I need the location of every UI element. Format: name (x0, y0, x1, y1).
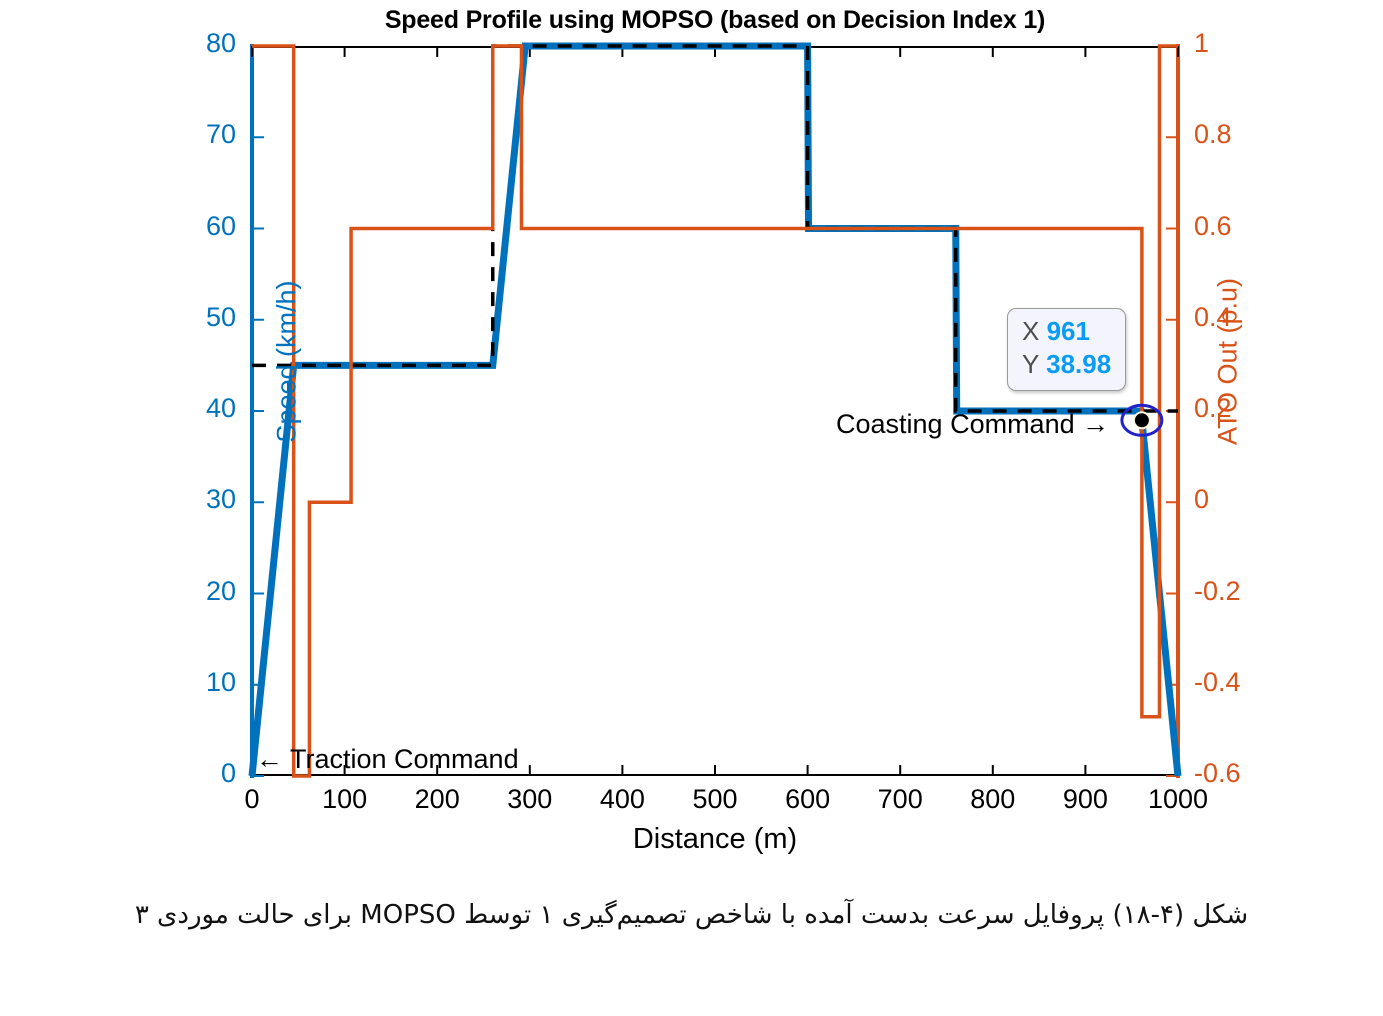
data-tip-x-value: 961 (1047, 316, 1090, 346)
figure-container: Speed Profile using MOPSO (based on Deci… (0, 0, 1383, 1016)
y-tick-label-right: 0.6 (1194, 211, 1284, 242)
y-tick-label-left: 10 (166, 667, 236, 698)
data-tip-x-key: X (1022, 316, 1039, 346)
data-tip-y-value: 38.98 (1046, 349, 1111, 379)
y-tick-label-left: 80 (166, 28, 236, 59)
coasting-command-annotation: Coasting Command → (836, 409, 1109, 440)
y-tick-label-left: 20 (166, 576, 236, 607)
data-tip-x-row: X 961 (1022, 315, 1111, 348)
y-tick-label-right: -0.2 (1194, 576, 1284, 607)
y-tick-label-left: 40 (166, 393, 236, 424)
y-tick-label-right: 0 (1194, 484, 1284, 515)
data-tip-y-key: Y (1022, 349, 1039, 379)
y-axis-label-left: Speed (km/h) (272, 232, 303, 492)
data-tip-box[interactable]: X 961 Y 38.98 (1007, 308, 1126, 391)
figure-caption: شکل (۴-۱۸) پروفایل سرعت بدست آمده با شاخ… (0, 900, 1383, 930)
y-axis-label-right: ATO Out (p.u) (1213, 232, 1244, 492)
y-tick-label-right: 1 (1194, 28, 1284, 59)
y-tick-label-right: -0.4 (1194, 667, 1284, 698)
y-tick-label-right: 0.8 (1194, 119, 1284, 150)
traction-command-annotation: ← Traction Command (256, 744, 519, 775)
y-tick-label-left: 60 (166, 211, 236, 242)
y-tick-label-left: 70 (166, 119, 236, 150)
x-axis-label: Distance (m) (252, 823, 1178, 856)
y-tick-label-right: 0.4 (1194, 302, 1284, 333)
y-tick-label-left: 50 (166, 302, 236, 333)
y-tick-label-left: 30 (166, 484, 236, 515)
y-tick-label-right: 0.2 (1194, 393, 1284, 424)
chart-title: Speed Profile using MOPSO (based on Deci… (252, 6, 1178, 35)
x-tick-label: 1000 (1118, 784, 1238, 815)
data-tip-y-row: Y 38.98 (1022, 348, 1111, 381)
